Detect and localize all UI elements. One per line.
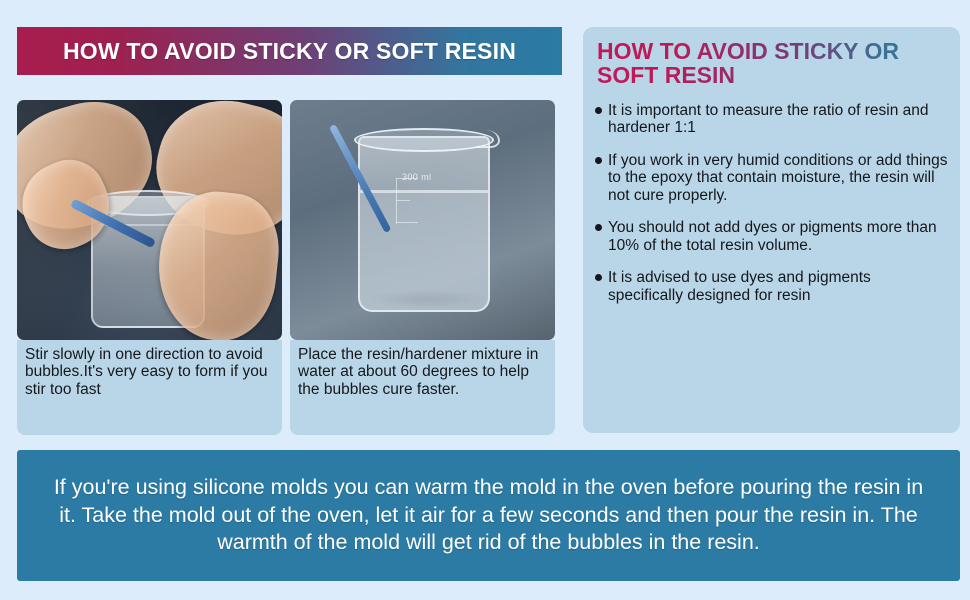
list-item: It is advised to use dyes and pigments s… [595,269,948,304]
list-item-text: If you work in very humid conditions or … [608,152,947,204]
bullet-dot-icon [595,274,602,281]
tips-panel-title: HOW TO AVOID STICKY OR SOFT RESIN [583,27,960,92]
photo-beaker-image: 300 ml [290,100,555,340]
tips-list: It is important to measure the ratio of … [583,92,960,305]
photo-stirring-resin [17,100,282,340]
infographic-page: HOW TO AVOID STICKY OR SOFT RESIN Stir s… [0,0,970,600]
list-item-text: It is advised to use dyes and pigments s… [608,269,871,304]
header-banner: HOW TO AVOID STICKY OR SOFT RESIN [17,27,562,75]
caption-panel-1: Stir slowly in one direction to avoid bu… [17,340,282,435]
left-column: HOW TO AVOID STICKY OR SOFT RESIN Stir s… [17,27,562,75]
beaker-scale-tick-mid [396,200,410,201]
tips-panel: HOW TO AVOID STICKY OR SOFT RESIN It is … [583,27,960,433]
caption-text-2: Place the resin/hardener mixture in wate… [290,340,555,398]
beaker [358,136,490,312]
beaker-spout [476,130,500,148]
list-item: You should not add dyes or pigments more… [595,219,948,254]
list-item: If you work in very humid conditions or … [595,152,948,205]
beaker-volume-label: 300 ml [402,172,431,182]
footer-banner: If you're using silicone molds you can w… [17,450,960,581]
list-item-text: You should not add dyes or pigments more… [608,219,937,254]
bullet-dot-icon [595,157,602,164]
photo-beaker-water-bath: 300 ml [290,100,555,340]
bullet-dot-icon [595,107,602,114]
beaker-scale-line [396,178,397,224]
photo-stirring-resin-image [17,100,282,340]
caption-text-1: Stir slowly in one direction to avoid bu… [17,340,282,398]
bullet-dot-icon [595,224,602,231]
caption-panel-2: Place the resin/hardener mixture in wate… [290,340,555,435]
footer-text: If you're using silicone molds you can w… [17,474,960,558]
list-item: It is important to measure the ratio of … [595,102,948,137]
photo-row: Stir slowly in one direction to avoid bu… [17,100,562,460]
list-item-text: It is important to measure the ratio of … [608,102,929,137]
beaker-scale-tick-bottom [396,222,418,223]
photo-sheen [17,100,282,340]
beaker-rim [354,128,494,152]
header-title: HOW TO AVOID STICKY OR SOFT RESIN [63,38,516,65]
